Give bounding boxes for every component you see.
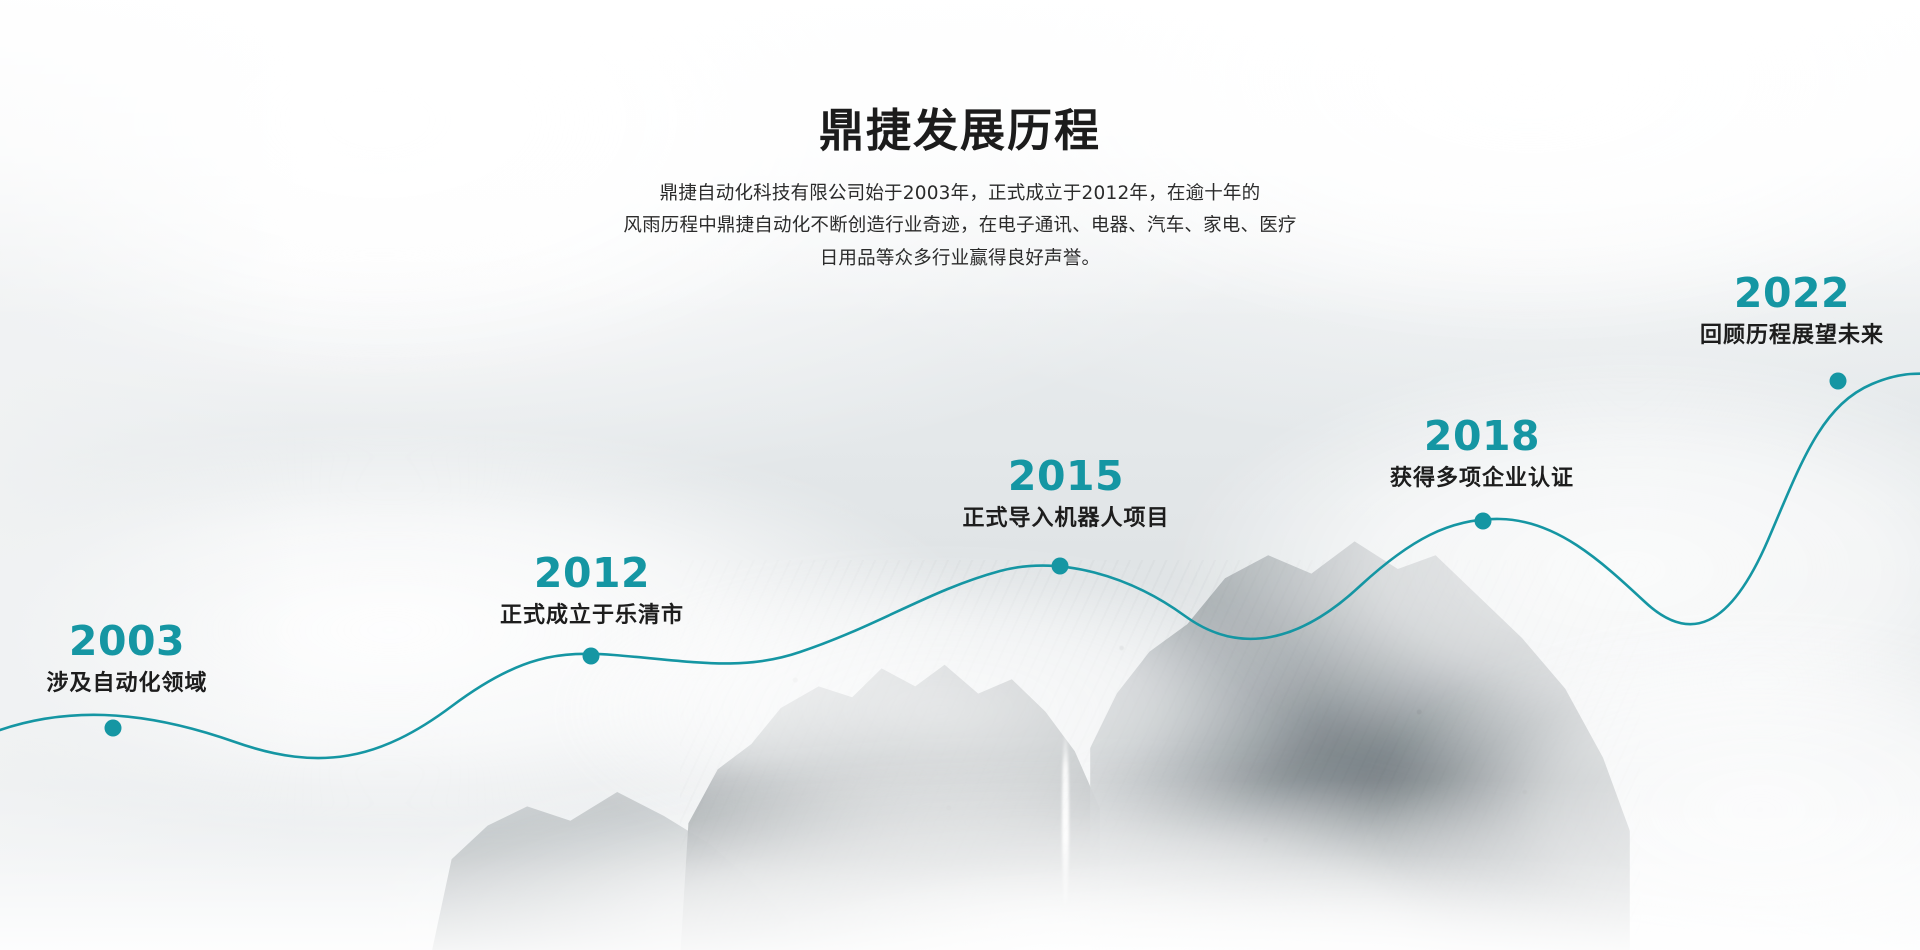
milestone-2012[interactable]: 2012正式成立于乐清市 <box>500 552 684 631</box>
milestone-caption-2012: 正式成立于乐清市 <box>500 602 684 631</box>
milestone-year-2015: 2015 <box>962 455 1169 498</box>
milestone-year-2012: 2012 <box>500 552 684 595</box>
page-title: 鼎捷发展历程 <box>0 104 1920 158</box>
timeline-curve-path <box>0 374 1920 758</box>
description-line-3: 日用品等众多行业赢得良好声誉。 <box>0 243 1920 275</box>
milestone-year-2022: 2022 <box>1700 272 1884 315</box>
milestone-caption-2003: 涉及自动化领域 <box>46 670 207 699</box>
description-line-1: 鼎捷自动化科技有限公司始于2003年，正式成立于2012年，在逾十年的 <box>0 178 1920 210</box>
header: 鼎捷发展历程 鼎捷自动化科技有限公司始于2003年，正式成立于2012年，在逾十… <box>0 104 1920 275</box>
timeline-dot-group <box>105 373 1847 737</box>
timeline-node-dot-2012[interactable] <box>583 648 600 665</box>
milestone-2018[interactable]: 2018获得多项企业认证 <box>1390 415 1574 494</box>
timeline-node-dot-2022[interactable] <box>1830 373 1847 390</box>
page-description: 鼎捷自动化科技有限公司始于2003年，正式成立于2012年，在逾十年的 风雨历程… <box>0 178 1920 275</box>
milestone-year-2003: 2003 <box>46 620 207 663</box>
milestone-year-2018: 2018 <box>1390 415 1574 458</box>
milestone-caption-2022: 回顾历程展望未来 <box>1700 322 1884 351</box>
timeline-node-dot-2018[interactable] <box>1475 513 1492 530</box>
description-line-2: 风雨历程中鼎捷自动化不断创造行业奇迹，在电子通讯、电器、汽车、家电、医疗 <box>0 210 1920 242</box>
milestone-caption-2015: 正式导入机器人项目 <box>962 505 1169 534</box>
milestone-2015[interactable]: 2015正式导入机器人项目 <box>962 455 1169 534</box>
milestone-2022[interactable]: 2022回顾历程展望未来 <box>1700 272 1884 351</box>
timeline-infographic: 鼎捷发展历程 鼎捷自动化科技有限公司始于2003年，正式成立于2012年，在逾十… <box>0 0 1920 950</box>
timeline-node-dot-2015[interactable] <box>1052 558 1069 575</box>
milestone-caption-2018: 获得多项企业认证 <box>1390 465 1574 494</box>
timeline-node-dot-2003[interactable] <box>105 720 122 737</box>
milestone-2003[interactable]: 2003涉及自动化领域 <box>46 620 207 699</box>
